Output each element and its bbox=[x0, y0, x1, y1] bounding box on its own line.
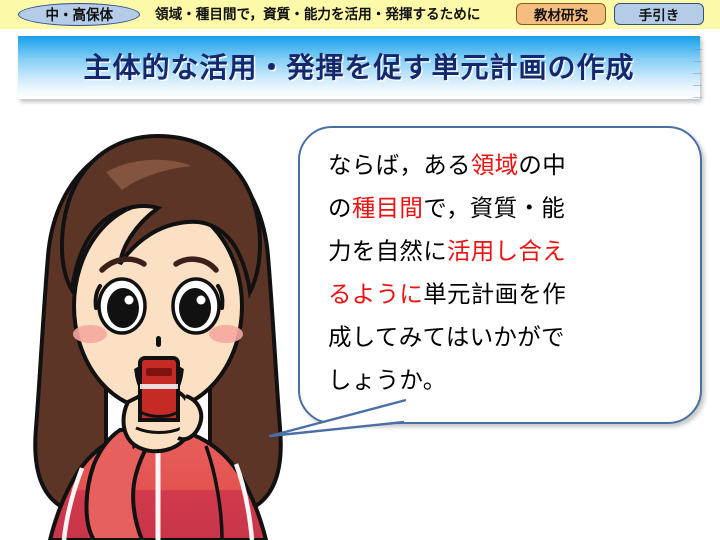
banner-edge-ticks bbox=[693, 37, 702, 98]
title-banner: 主体的な活用・発揮を促す単元計画の作成 bbox=[18, 36, 700, 99]
speech-bubble-line: るように単元計画を作 bbox=[328, 273, 668, 316]
character-illustration bbox=[10, 128, 310, 540]
guidebook-button[interactable]: 手引き bbox=[614, 3, 704, 25]
speech-bubble-highlight: るように bbox=[328, 280, 423, 308]
speech-bubble-tail bbox=[268, 396, 408, 442]
speech-bubble-highlight: 領域 bbox=[471, 151, 519, 179]
speech-bubble-text: ならば，ある領域の中の種目間で，資質・能力を自然に活用し合えるように単元計画を作… bbox=[328, 144, 668, 402]
speech-bubble-line: ならば，ある領域の中 bbox=[328, 144, 668, 187]
speech-bubble-line: 成してみてはいかがで bbox=[328, 316, 668, 359]
speech-bubble-plain: 力を自然に bbox=[328, 237, 447, 265]
speech-bubble-plain: で，資質・能 bbox=[423, 194, 565, 222]
speech-bubble-plain: の bbox=[328, 194, 352, 222]
speech-bubble-highlight: 活用し合え bbox=[447, 237, 566, 265]
header-subtitle: 領域・種目間で，資質・能力を活用・発揮するために bbox=[155, 4, 480, 24]
speech-bubble-line: 力を自然に活用し合え bbox=[328, 230, 668, 273]
slide-canvas: 中・高保体 領域・種目間で，資質・能力を活用・発揮するために 教材研究 手引き … bbox=[0, 0, 720, 540]
speech-bubble-plain: しょうか。 bbox=[328, 366, 447, 394]
speech-bubble-highlight: 種目間 bbox=[352, 194, 423, 222]
speech-bubble-line: の種目間で，資質・能 bbox=[328, 187, 668, 230]
category-badge-label: 中・高保体 bbox=[45, 4, 112, 25]
teaching-material-research-button[interactable]: 教材研究 bbox=[516, 3, 606, 25]
whistle-woman-icon bbox=[10, 128, 310, 540]
speech-bubble-plain: 成してみてはいかがで bbox=[328, 323, 565, 351]
speech-bubble: ならば，ある領域の中の種目間で，資質・能力を自然に活用し合えるように単元計画を作… bbox=[298, 126, 702, 424]
header-bar: 中・高保体 領域・種目間で，資質・能力を活用・発揮するために 教材研究 手引き bbox=[0, 0, 720, 29]
page-title: 主体的な活用・発揮を促す単元計画の作成 bbox=[18, 36, 700, 99]
category-badge: 中・高保体 bbox=[18, 3, 140, 26]
speech-bubble-plain: ならば，ある bbox=[328, 151, 471, 179]
speech-bubble-plain: の中 bbox=[518, 151, 566, 179]
speech-bubble-plain: 単元計画を作 bbox=[423, 280, 566, 308]
